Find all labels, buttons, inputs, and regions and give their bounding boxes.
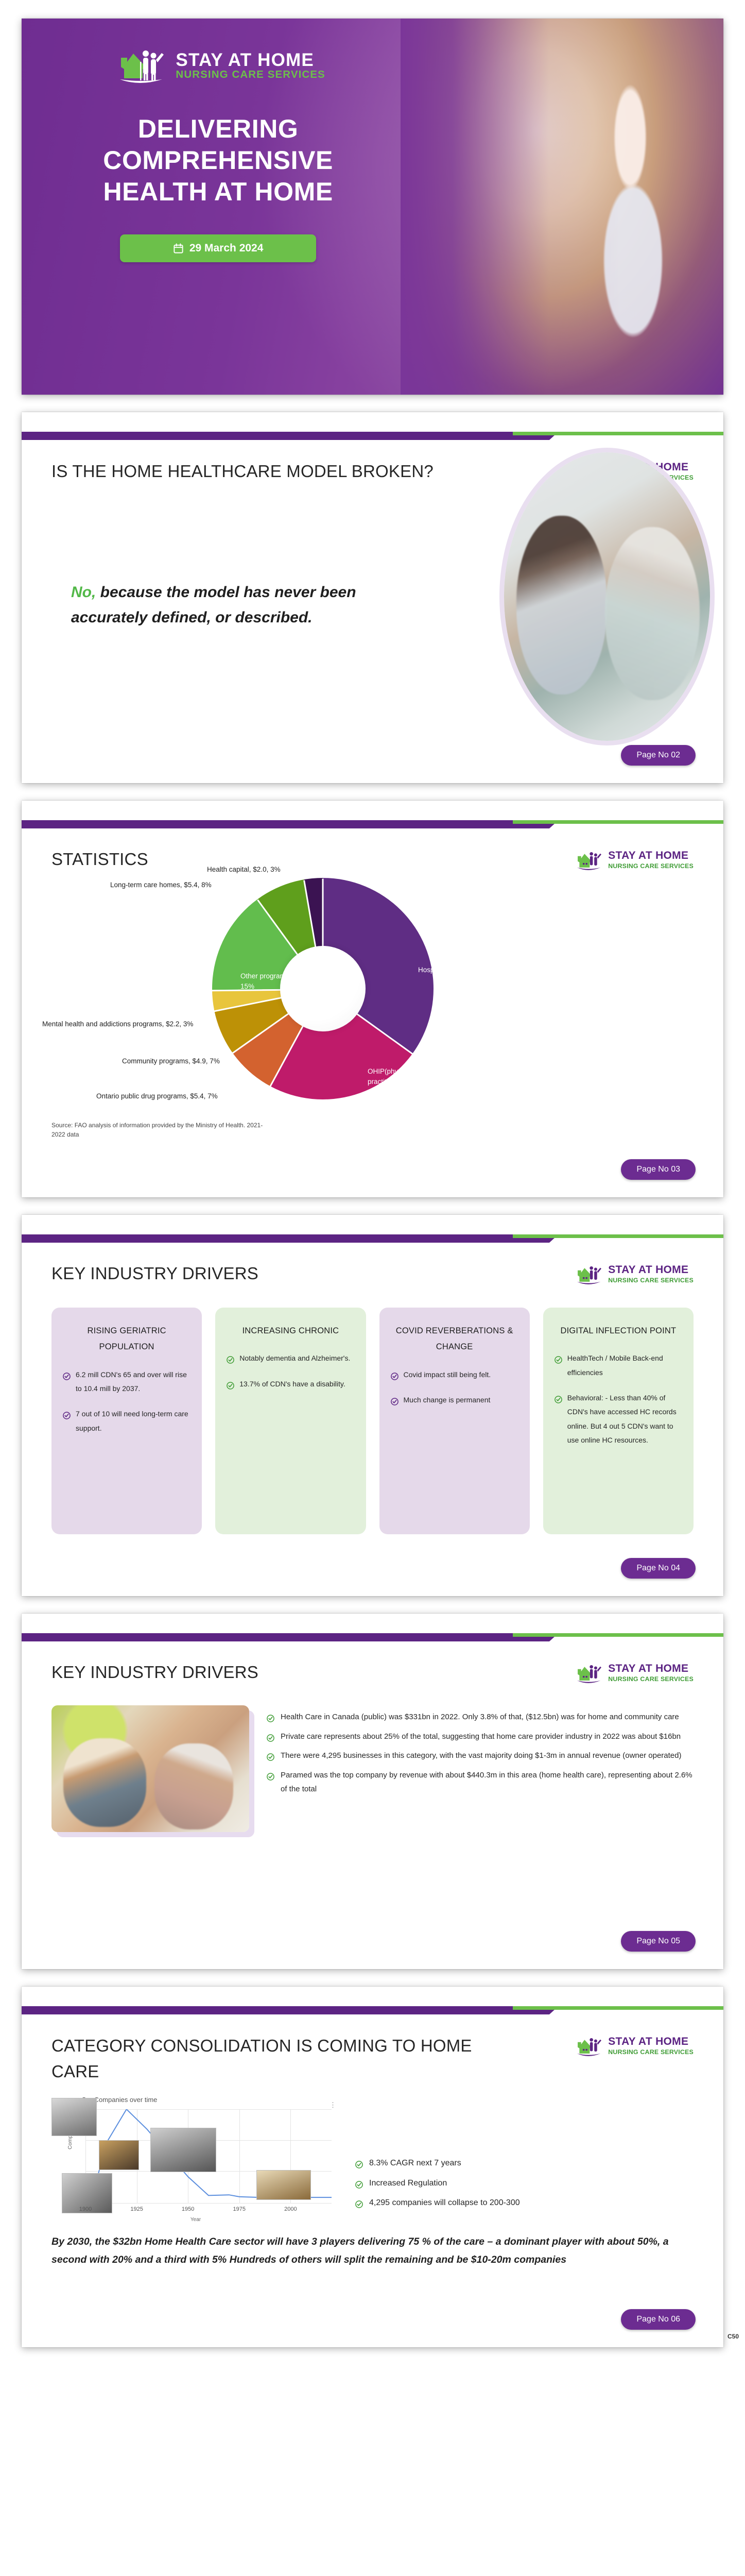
list-item: 7 out of 10 will need long-term care sup…	[63, 1407, 190, 1435]
topbar-green-band	[513, 1234, 723, 1238]
quote-text: because the model has never been accurat…	[71, 584, 356, 626]
topbar-purple-band	[22, 1633, 559, 1641]
check-circle-icon	[555, 1354, 562, 1362]
topbar-purple-band	[22, 820, 559, 828]
watermark: C50	[727, 2333, 739, 2340]
page-badge[interactable]: Page No 02	[621, 745, 696, 766]
page-badge[interactable]: Page No 06	[621, 2309, 696, 2330]
x-axis-tick-label: 1975	[233, 2206, 246, 2212]
date-label: 29 March 2024	[189, 242, 264, 255]
car-companies-chart: Car Companies over time ⋮ 150 0 Companie…	[51, 2094, 340, 2222]
x-axis-tick-label: 1925	[130, 2206, 143, 2212]
slide-category-consolidation: CATEGORY CONSOLIDATION IS COMING TO HOME…	[22, 1987, 723, 2347]
car-era-thumbnail	[51, 2098, 97, 2136]
list-item: 13.7% of CDN's have a disability.	[227, 1377, 354, 1391]
pie-label-health-capital: Health capital, $2.0, 3%	[207, 865, 281, 875]
grid-line	[85, 2203, 332, 2204]
pie-slice-divider	[322, 879, 324, 990]
logo-subtitle: NURSING CARE SERVICES	[608, 1675, 694, 1683]
x-axis-label: Year	[190, 2217, 201, 2223]
driver-card-title: COVID REVERBERATIONS & CHANGE	[391, 1323, 518, 1355]
date-button[interactable]: 29 March 2024	[120, 234, 317, 262]
quote-block: No, because the model has never been acc…	[51, 580, 398, 630]
pie-label-long-term-care: Long-term care homes, $5.4, 8%	[110, 880, 212, 890]
x-axis-tick-label: 2000	[284, 2206, 297, 2212]
industry-stats-list: Health Care in Canada (public) was $331b…	[267, 1705, 694, 1802]
house-family-logo-icon	[572, 1263, 604, 1286]
check-circle-icon	[355, 2198, 363, 2206]
check-circle-icon	[267, 1752, 274, 1760]
house-family-logo-icon	[572, 2035, 604, 2058]
check-circle-icon	[267, 1733, 274, 1741]
pie-label-hospitals: Hospitals, $25.8, 35%	[418, 965, 495, 975]
bullet-text: Health Care in Canada (public) was $331b…	[281, 1710, 679, 1724]
list-item: Private care represents about 25% of the…	[267, 1730, 694, 1744]
pie-label-other-programs: Other programs, $11.2, 15%	[240, 971, 318, 991]
driver-card-item-text: Notably dementia and Alzheimer's.	[239, 1351, 350, 1365]
car-era-thumbnail	[256, 2170, 311, 2200]
senior-couple-photo	[51, 1705, 249, 1832]
hero-title: DELIVERING COMPREHENSIVE HEALTH AT HOME	[49, 113, 387, 208]
check-circle-icon	[63, 1410, 71, 1418]
list-item: Notably dementia and Alzheimer's.	[227, 1351, 354, 1365]
slide-topbar	[22, 2006, 723, 2014]
check-circle-icon	[355, 2159, 363, 2166]
list-item: Paramed was the top company by revenue w…	[267, 1769, 694, 1796]
logo-title: STAY AT HOME	[608, 1264, 688, 1276]
list-item: Behavioral: - Less than 40% of CDN's hav…	[555, 1391, 682, 1447]
logo-subtitle: NURSING CARE SERVICES	[176, 69, 325, 80]
house-family-logo-icon	[572, 1662, 604, 1685]
check-circle-icon	[227, 1380, 234, 1388]
logo-subtitle: NURSING CARE SERVICES	[608, 1277, 694, 1284]
list-item: There were 4,295 businesses in this cate…	[267, 1749, 694, 1763]
driver-card-list: HealthTech / Mobile Back-end efficiencie…	[555, 1351, 682, 1447]
car-era-thumbnail	[99, 2140, 139, 2170]
slide-key-industry-drivers-cards: KEY INDUSTRY DRIVERS STAY AT HOME NURSIN…	[22, 1215, 723, 1596]
driver-card-list: Covid impact still being felt.Much chang…	[391, 1368, 518, 1408]
slide-model-broken: IS THE HOME HEALTHCARE MODEL BROKEN? STA…	[22, 412, 723, 783]
topbar-purple-band	[22, 2006, 559, 2014]
logo-subtitle: NURSING CARE SERVICES	[608, 2048, 694, 2056]
brand-logo: STAY AT HOME NURSING CARE SERVICES	[572, 1263, 694, 1286]
driver-card-title: INCREASING CHRONIC	[227, 1323, 354, 1339]
driver-card-list: 6.2 mill CDN's 65 and over will rise to …	[63, 1368, 190, 1435]
x-axis-tick-label: 1950	[182, 2206, 194, 2212]
check-circle-icon	[267, 1714, 274, 1721]
bullet-text: Increased Regulation	[369, 2176, 447, 2191]
check-circle-icon	[391, 1371, 399, 1379]
list-item: Much change is permanent	[391, 1393, 518, 1407]
check-circle-icon	[391, 1396, 399, 1404]
driver-card: DIGITAL INFLECTION POINTHealthTech / Mob…	[543, 1308, 694, 1534]
pie-label-drug-programs: Ontario public drug programs, $5.4, 7%	[96, 1091, 218, 1101]
hero-photo	[401, 19, 723, 395]
slide-topbar	[22, 1633, 723, 1641]
driver-card-item-text: Covid impact still being felt.	[404, 1368, 491, 1382]
slide-statistics: STATISTICS STAY AT HOME NURSING CARE SER…	[22, 801, 723, 1197]
bullet-text: Paramed was the top company by revenue w…	[281, 1769, 694, 1796]
list-item: 6.2 mill CDN's 65 and over will rise to …	[63, 1368, 190, 1396]
brand-logo: STAY AT HOME NURSING CARE SERVICES	[572, 1662, 694, 1685]
pie-slice-divider	[214, 989, 323, 1012]
check-circle-icon	[555, 1394, 562, 1402]
pie-label-mental-health: Mental health and addictions programs, $…	[42, 1019, 212, 1029]
slide-topbar	[22, 820, 723, 828]
bullet-text: 4,295 companies will collapse to 200-300	[369, 2195, 520, 2211]
driver-card-list: Notably dementia and Alzheimer's.13.7% o…	[227, 1351, 354, 1391]
driver-card: RISING GERIATRIC POPULATION6.2 mill CDN'…	[51, 1308, 202, 1534]
driver-card-item-text: 6.2 mill CDN's 65 and over will rise to …	[76, 1368, 190, 1396]
pie-label-ohip: OHIP(physicians and practitioners), $17.…	[368, 1066, 451, 1087]
driver-cards: RISING GERIATRIC POPULATION6.2 mill CDN'…	[22, 1286, 723, 1534]
check-circle-icon	[227, 1354, 234, 1362]
driver-card-title: RISING GERIATRIC POPULATION	[63, 1323, 190, 1355]
bullet-text: 8.3% CAGR next 7 years	[369, 2156, 461, 2171]
x-axis-tick-label: 1900	[79, 2206, 92, 2212]
chart-menu-icon[interactable]: ⋮	[330, 2101, 337, 2109]
logo-title: STAY AT HOME	[176, 50, 314, 70]
car-era-thumbnail	[150, 2128, 216, 2172]
bullet-text: Private care represents about 25% of the…	[281, 1730, 681, 1744]
slide-topbar	[22, 1234, 723, 1243]
driver-card-item-text: Behavioral: - Less than 40% of CDN's hav…	[567, 1391, 682, 1447]
page-badge[interactable]: Page No 03	[621, 1159, 696, 1180]
driver-card-item-text: 13.7% of CDN's have a disability.	[239, 1377, 345, 1391]
page-badge[interactable]: Page No 04	[621, 1558, 696, 1579]
driver-card: INCREASING CHRONICNotably dementia and A…	[215, 1308, 366, 1534]
logo-title: STAY AT HOME	[608, 850, 688, 861]
source-note: Source: FAO analysis of information prov…	[51, 1121, 273, 1140]
list-item: 4,295 companies will collapse to 200-300	[355, 2195, 694, 2211]
house-family-logo-icon	[111, 46, 168, 84]
list-item: Health Care in Canada (public) was $331b…	[267, 1710, 694, 1724]
statistics-chart: Health capital, $2.0, 3% Long-term care …	[22, 865, 723, 1143]
check-circle-icon	[63, 1371, 71, 1379]
check-circle-icon	[267, 1772, 274, 1780]
page-title: CATEGORY CONSOLIDATION IS COMING TO HOME…	[51, 2033, 488, 2084]
hero-figure	[562, 79, 704, 372]
pie-slice-divider	[322, 989, 413, 1055]
bullet-text: There were 4,295 businesses in this cate…	[281, 1749, 681, 1763]
list-item: Covid impact still being felt.	[391, 1368, 518, 1382]
driver-card-title: DIGITAL INFLECTION POINT	[555, 1323, 682, 1339]
slide-title: STAY AT HOME NURSING CARE SERVICES DELIV…	[22, 19, 723, 395]
pie-label-community-programs: Community programs, $4.9, 7%	[122, 1056, 220, 1066]
list-item: HealthTech / Mobile Back-end efficiencie…	[555, 1351, 682, 1380]
page-title: KEY INDUSTRY DRIVERS	[51, 1660, 258, 1685]
driver-card-item-text: 7 out of 10 will need long-term care sup…	[76, 1407, 190, 1435]
topbar-purple-band	[22, 1234, 559, 1243]
calendar-icon	[173, 243, 184, 254]
quote-highlight: No,	[71, 584, 96, 601]
topbar-purple-band	[22, 432, 559, 440]
page-title: IS THE HOME HEALTHCARE MODEL BROKEN?	[51, 459, 434, 484]
brand-logo: STAY AT HOME NURSING CARE SERVICES	[22, 46, 414, 84]
caregiver-puzzle-photo	[504, 452, 710, 741]
check-circle-icon	[355, 2179, 363, 2187]
conclusion-text: By 2030, the $32bn Home Health Care sect…	[22, 2222, 723, 2268]
slide-deck: STAY AT HOME NURSING CARE SERVICES DELIV…	[0, 19, 745, 2347]
page-badge[interactable]: Page No 05	[621, 1931, 696, 1952]
driver-card-item-text: HealthTech / Mobile Back-end efficiencie…	[567, 1351, 682, 1380]
consolidation-bullets: 8.3% CAGR next 7 yearsIncreased Regulati…	[355, 2094, 694, 2215]
logo-title: STAY AT HOME	[608, 2036, 688, 2047]
driver-card: COVID REVERBERATIONS & CHANGECovid impac…	[379, 1308, 530, 1534]
list-item: Increased Regulation	[355, 2176, 694, 2191]
pie-slice-divider	[269, 989, 323, 1087]
topbar-green-band	[513, 432, 723, 435]
slide-topbar	[22, 432, 723, 440]
brand-logo: STAY AT HOME NURSING CARE SERVICES	[572, 2035, 694, 2058]
topbar-green-band	[513, 2006, 723, 2010]
topbar-green-band	[513, 820, 723, 824]
topbar-green-band	[513, 1633, 723, 1637]
driver-card-item-text: Much change is permanent	[404, 1393, 491, 1407]
page-title: KEY INDUSTRY DRIVERS	[51, 1261, 258, 1286]
slide-key-industry-drivers-stats: KEY INDUSTRY DRIVERS STAY AT HOME NURSIN…	[22, 1614, 723, 1969]
list-item: 8.3% CAGR next 7 years	[355, 2156, 694, 2171]
logo-title: STAY AT HOME	[608, 1663, 688, 1674]
